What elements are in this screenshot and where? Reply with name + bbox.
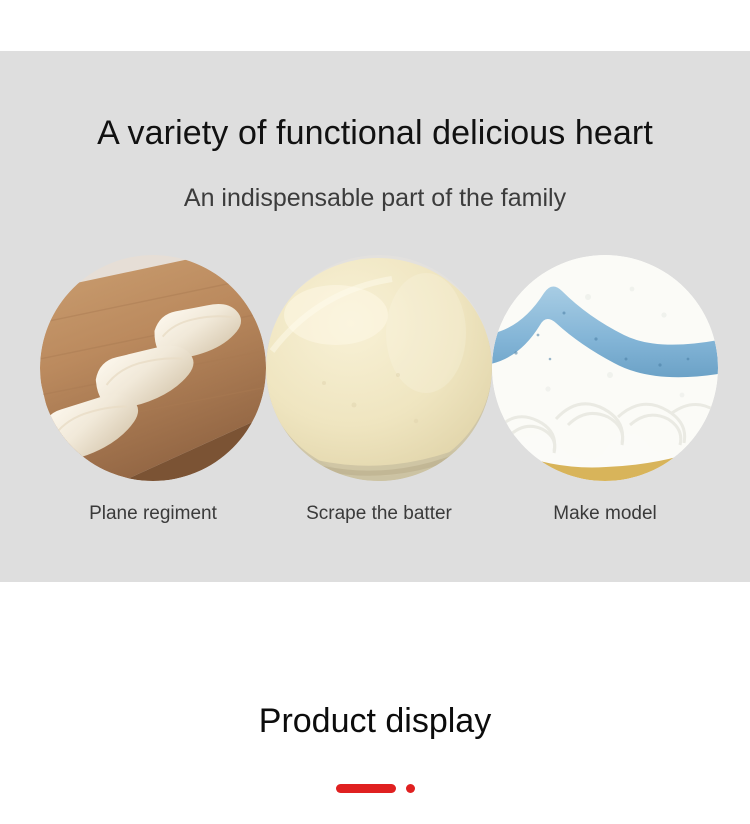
page-subtitle: An indispensable part of the family [0,184,750,213]
section-divider [0,784,750,793]
page-title: A variety of functional delicious heart [0,114,750,153]
feature-panel: A variety of functional delicious heart … [0,51,750,582]
bowl-of-batter-image [266,255,492,481]
process-step-plane-regiment: Plane regiment [40,255,266,525]
divider-dot [406,784,415,793]
step-caption: Scrape the batter [306,503,452,525]
divider-bar [336,784,396,793]
process-step-make-model: Make model [492,255,718,525]
dough-rolls-on-wooden-board-image [40,255,266,481]
process-step-row: Plane regiment [40,255,718,545]
section-title: Product display [0,702,750,741]
step-caption: Plane regiment [89,503,217,525]
process-step-scrape-the-batter: Scrape the batter [266,255,492,525]
step-caption: Make model [553,503,657,525]
product-display-section: Product display [0,582,750,824]
piped-cream-cake-with-blue-wave-image [492,255,718,481]
